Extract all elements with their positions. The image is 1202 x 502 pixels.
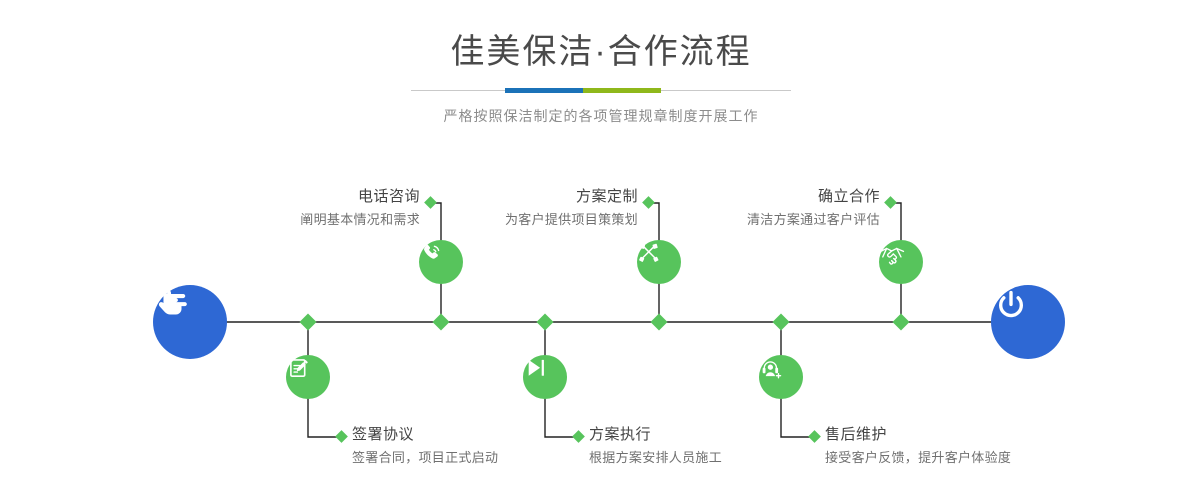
label-diamond xyxy=(335,430,348,443)
label-step-6: 售后维护 接受客户反馈，提升客户体验度 xyxy=(825,425,1011,468)
node-step-2[interactable] xyxy=(286,355,330,399)
label-diamond xyxy=(572,430,585,443)
label-diamond xyxy=(424,196,437,209)
flowchart-page: 佳美保洁·合作流程 严格按照保洁制定的各项管理规章制度开展工作 xyxy=(0,0,1202,502)
timeline-graphic: 电话咨询 阐明基本情况和需求 方案定制 为客户提供项目策策划 确立合作 清洁方案… xyxy=(0,0,1202,502)
step-desc: 清洁方案通过客户评估 xyxy=(747,210,880,230)
label-diamond xyxy=(642,196,655,209)
axis-diamond xyxy=(300,314,317,331)
node-step-5[interactable] xyxy=(879,240,923,284)
step-desc: 根据方案安排人员施工 xyxy=(589,448,722,468)
axis-diamond xyxy=(893,314,910,331)
axis-diamond xyxy=(651,314,668,331)
step-desc: 阐明基本情况和需求 xyxy=(300,210,420,230)
node-step-4[interactable] xyxy=(523,355,567,399)
step-title: 电话咨询 xyxy=(300,187,420,207)
axis-diamond xyxy=(537,314,554,331)
label-step-3: 方案定制 为客户提供项目策策划 xyxy=(505,187,638,230)
step-desc: 为客户提供项目策策划 xyxy=(505,210,638,230)
step-title: 方案定制 xyxy=(505,187,638,207)
axis-diamond xyxy=(773,314,790,331)
step-title: 签署协议 xyxy=(352,425,498,445)
label-step-2: 签署协议 签署合同，项目正式启动 xyxy=(352,425,498,468)
step-desc: 接受客户反馈，提升客户体验度 xyxy=(825,448,1011,468)
step-title: 售后维护 xyxy=(825,425,1011,445)
label-step-5: 确立合作 清洁方案通过客户评估 xyxy=(747,187,880,230)
step-title: 方案执行 xyxy=(589,425,722,445)
end-endpoint[interactable] xyxy=(991,285,1065,359)
step-title: 确立合作 xyxy=(747,187,880,207)
label-step-4: 方案执行 根据方案安排人员施工 xyxy=(589,425,722,468)
node-step-1[interactable] xyxy=(419,240,463,284)
node-step-3[interactable] xyxy=(637,240,681,284)
start-endpoint[interactable] xyxy=(153,285,227,359)
node-step-6[interactable] xyxy=(759,355,803,399)
step-desc: 签署合同，项目正式启动 xyxy=(352,448,498,468)
axis-diamond xyxy=(433,314,450,331)
label-diamond xyxy=(884,196,897,209)
label-step-1: 电话咨询 阐明基本情况和需求 xyxy=(300,187,420,230)
label-diamond xyxy=(808,430,821,443)
